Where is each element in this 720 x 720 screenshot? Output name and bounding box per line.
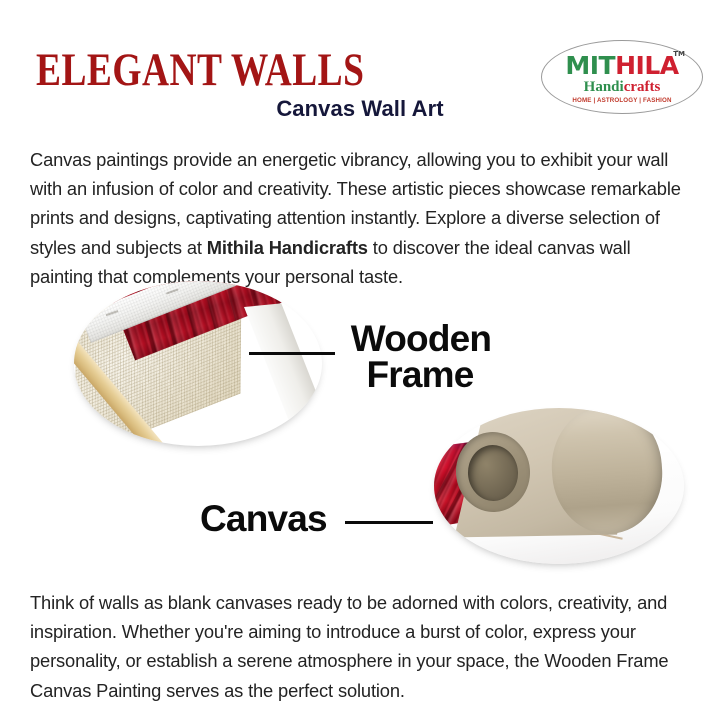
canvas-wrap-side-edge [244, 303, 322, 424]
logo-subtext-green: Handi [584, 79, 624, 95]
closing-paragraph: Think of walls as blank canvases ready t… [30, 588, 684, 706]
oval-photo-mask [74, 281, 322, 446]
callout-line-1: Canvas [200, 498, 327, 539]
leaf-icon: T [599, 51, 616, 80]
callout-line-2: Frame [330, 357, 510, 393]
callout-line-1: Wooden [332, 321, 510, 357]
logo-wordmark-part-2: HILA [615, 51, 679, 80]
framed-canvas-corner-photo [74, 281, 322, 446]
section-subheading: Canvas Wall Art [0, 96, 720, 122]
logo-subtext: Handicrafts [542, 80, 702, 95]
brand-mention: Mithila Handicrafts [207, 237, 368, 258]
staple-icon [106, 310, 119, 317]
logo-subtext-red: crafts [624, 79, 661, 95]
staple-icon [166, 288, 179, 295]
callout-label-canvas: Canvas [200, 501, 327, 537]
intro-paragraph: Canvas paintings provide an energetic vi… [30, 145, 684, 292]
trademark-icon: TM [673, 50, 685, 58]
callout-label-wooden-frame: Wooden Frame [330, 321, 510, 393]
logo-wordmark-part-1: MI [565, 51, 598, 80]
rolled-canvas-photo [434, 408, 684, 564]
page-title: ELEGANT WALLS [36, 47, 364, 93]
leader-line-wooden-frame [249, 352, 335, 355]
leader-line-canvas [345, 521, 433, 524]
oval-photo-mask [434, 408, 684, 564]
